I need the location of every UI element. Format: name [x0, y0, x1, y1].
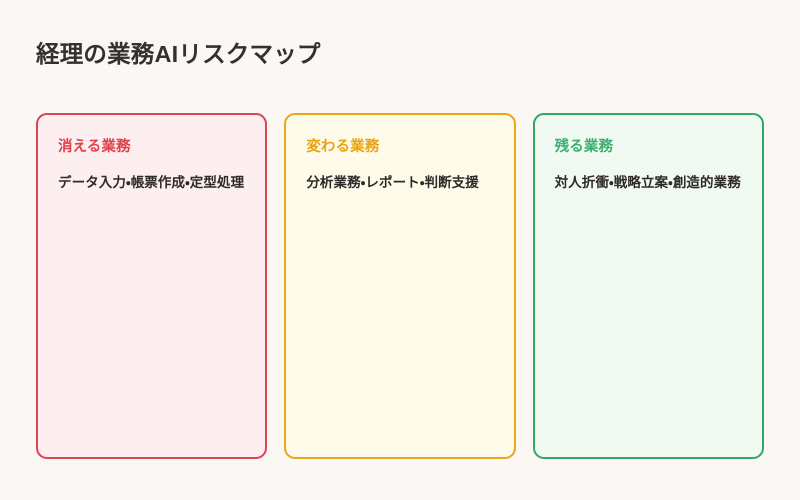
page-title: 経理の業務AIリスクマップ	[36, 40, 321, 69]
risk-card-body: 分析業務・レポート・判断支援	[306, 171, 479, 195]
slide-canvas: 経理の業務AIリスクマップ 消える業務 データ入力・帳票作成・定型処理 変わる業…	[0, 0, 800, 500]
risk-card-row: 消える業務 データ入力・帳票作成・定型処理 変わる業務 分析業務・レポート・判断…	[36, 113, 764, 459]
risk-card-body: 対人折衝・戦略立案・創造的業務	[555, 171, 741, 195]
risk-card-heading: 残る業務	[555, 137, 613, 157]
risk-card-changing: 変わる業務 分析業務・レポート・判断支援	[284, 113, 515, 459]
risk-card-body: データ入力・帳票作成・定型処理	[58, 171, 244, 195]
risk-card-disappearing: 消える業務 データ入力・帳票作成・定型処理	[36, 113, 267, 459]
risk-card-remaining: 残る業務 対人折衝・戦略立案・創造的業務	[533, 113, 764, 459]
risk-card-heading: 変わる業務	[306, 137, 379, 157]
risk-card-heading: 消える業務	[58, 137, 131, 157]
